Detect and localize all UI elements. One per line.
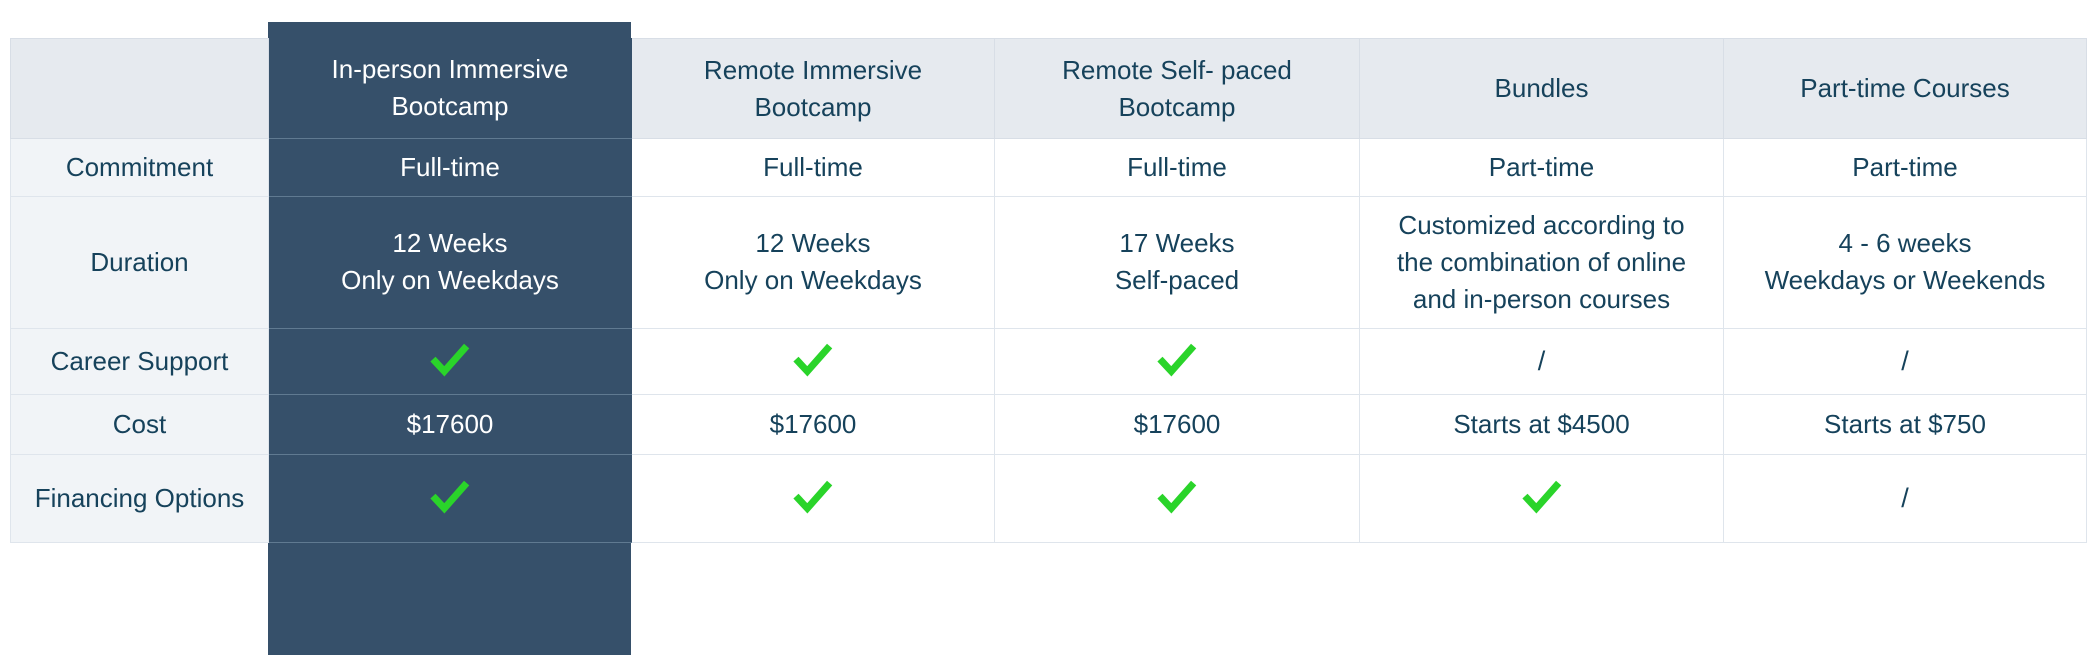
cell-cost-in-person-immersive-bootcamp: $17600 [269,394,632,454]
cell-text-line: Full-time [283,149,617,186]
table-row-commitment: CommitmentFull-timeFull-timeFull-timePar… [11,139,2087,197]
cell-duration-remote-self-paced-bootcamp: 17 WeeksSelf-paced [995,196,1360,328]
cell-text-line: Self-paced [1009,262,1345,299]
row-label-duration: Duration [11,196,269,328]
cell-financing-options-remote-immersive-bootcamp [632,454,995,542]
cell-text-line: 17 Weeks [1009,225,1345,262]
cell-text-line: $17600 [646,406,980,443]
cell-career-support-remote-immersive-bootcamp [632,328,995,394]
cell-commitment-remote-immersive-bootcamp: Full-time [632,139,995,197]
check-icon [430,341,470,381]
cell-text-line: Part-time [1738,149,2072,186]
cell-cost-bundles: Starts at $4500 [1360,394,1724,454]
cell-text-line: and in-person courses [1374,281,1709,318]
check-icon [1522,478,1562,518]
cell-cost-part-time-courses: Starts at $750 [1724,394,2087,454]
cell-text-line: Full-time [646,149,980,186]
cell-financing-options-in-person-immersive-bootcamp [269,454,632,542]
cell-text-line: $17600 [283,406,617,443]
table-row-duration: Duration12 WeeksOnly on Weekdays12 Weeks… [11,196,2087,328]
check-icon [1157,341,1197,381]
cell-duration-bundles: Customized according tothe combination o… [1360,196,1724,328]
check-icon [1157,478,1197,518]
cell-text-line: Full-time [1009,149,1345,186]
cell-financing-options-remote-self-paced-bootcamp [995,454,1360,542]
cell-text-line: 12 Weeks [646,225,980,262]
row-label-career-support: Career Support [11,328,269,394]
cell-career-support-part-time-courses: / [1724,328,2087,394]
cell-text-line: Weekdays or Weekends [1738,262,2072,299]
cell-cost-remote-self-paced-bootcamp: $17600 [995,394,1360,454]
not-available-mark: / [1738,479,2072,517]
table-row-financing-options: Financing Options/ [11,454,2087,542]
cell-financing-options-bundles [1360,454,1724,542]
row-label-cost: Cost [11,394,269,454]
cell-text-line: Only on Weekdays [646,262,980,299]
not-available-mark: / [1738,342,2072,380]
cell-career-support-remote-self-paced-bootcamp [995,328,1360,394]
cell-cost-remote-immersive-bootcamp: $17600 [632,394,995,454]
course-comparison-table: In-person Immersive BootcampRemote Immer… [10,38,2087,543]
header-row: In-person Immersive BootcampRemote Immer… [11,39,2087,139]
check-icon [793,341,833,381]
cell-text-line: Starts at $750 [1738,406,2072,443]
cell-text-line: 4 - 6 weeks [1738,225,2072,262]
not-available-mark: / [1374,342,1709,380]
cell-duration-in-person-immersive-bootcamp: 12 WeeksOnly on Weekdays [269,196,632,328]
cell-commitment-bundles: Part-time [1360,139,1724,197]
check-icon [793,478,833,518]
cell-text-line: 12 Weeks [283,225,617,262]
column-header-part-time-courses: Part-time Courses [1724,39,2087,139]
cell-commitment-in-person-immersive-bootcamp: Full-time [269,139,632,197]
cell-text-line: Customized according to [1374,207,1709,244]
comparison-table-page: In-person Immersive BootcampRemote Immer… [0,0,2096,672]
table-row-career-support: Career Support// [11,328,2087,394]
row-label-financing-options: Financing Options [11,454,269,542]
cell-text-line: the combination of online [1374,244,1709,281]
table-row-cost: Cost$17600$17600$17600Starts at $4500Sta… [11,394,2087,454]
cell-text-line: Only on Weekdays [283,262,617,299]
column-header-bundles: Bundles [1360,39,1724,139]
cell-text-line: $17600 [1009,406,1345,443]
row-label-commitment: Commitment [11,139,269,197]
column-header-remote-self-paced-bootcamp: Remote Self- paced Bootcamp [995,39,1360,139]
cell-career-support-bundles: / [1360,328,1724,394]
column-header-remote-immersive-bootcamp: Remote Immersive Bootcamp [632,39,995,139]
table-body: CommitmentFull-timeFull-timeFull-timePar… [11,139,2087,543]
cell-career-support-in-person-immersive-bootcamp [269,328,632,394]
check-icon [430,478,470,518]
cell-duration-part-time-courses: 4 - 6 weeksWeekdays or Weekends [1724,196,2087,328]
table-header: In-person Immersive BootcampRemote Immer… [11,39,2087,139]
column-header-in-person-immersive-bootcamp: In-person Immersive Bootcamp [269,39,632,139]
cell-financing-options-part-time-courses: / [1724,454,2087,542]
cell-text-line: Part-time [1374,149,1709,186]
cell-text-line: Starts at $4500 [1374,406,1709,443]
cell-duration-remote-immersive-bootcamp: 12 WeeksOnly on Weekdays [632,196,995,328]
header-corner-cell [11,39,269,139]
cell-commitment-remote-self-paced-bootcamp: Full-time [995,139,1360,197]
cell-commitment-part-time-courses: Part-time [1724,139,2087,197]
